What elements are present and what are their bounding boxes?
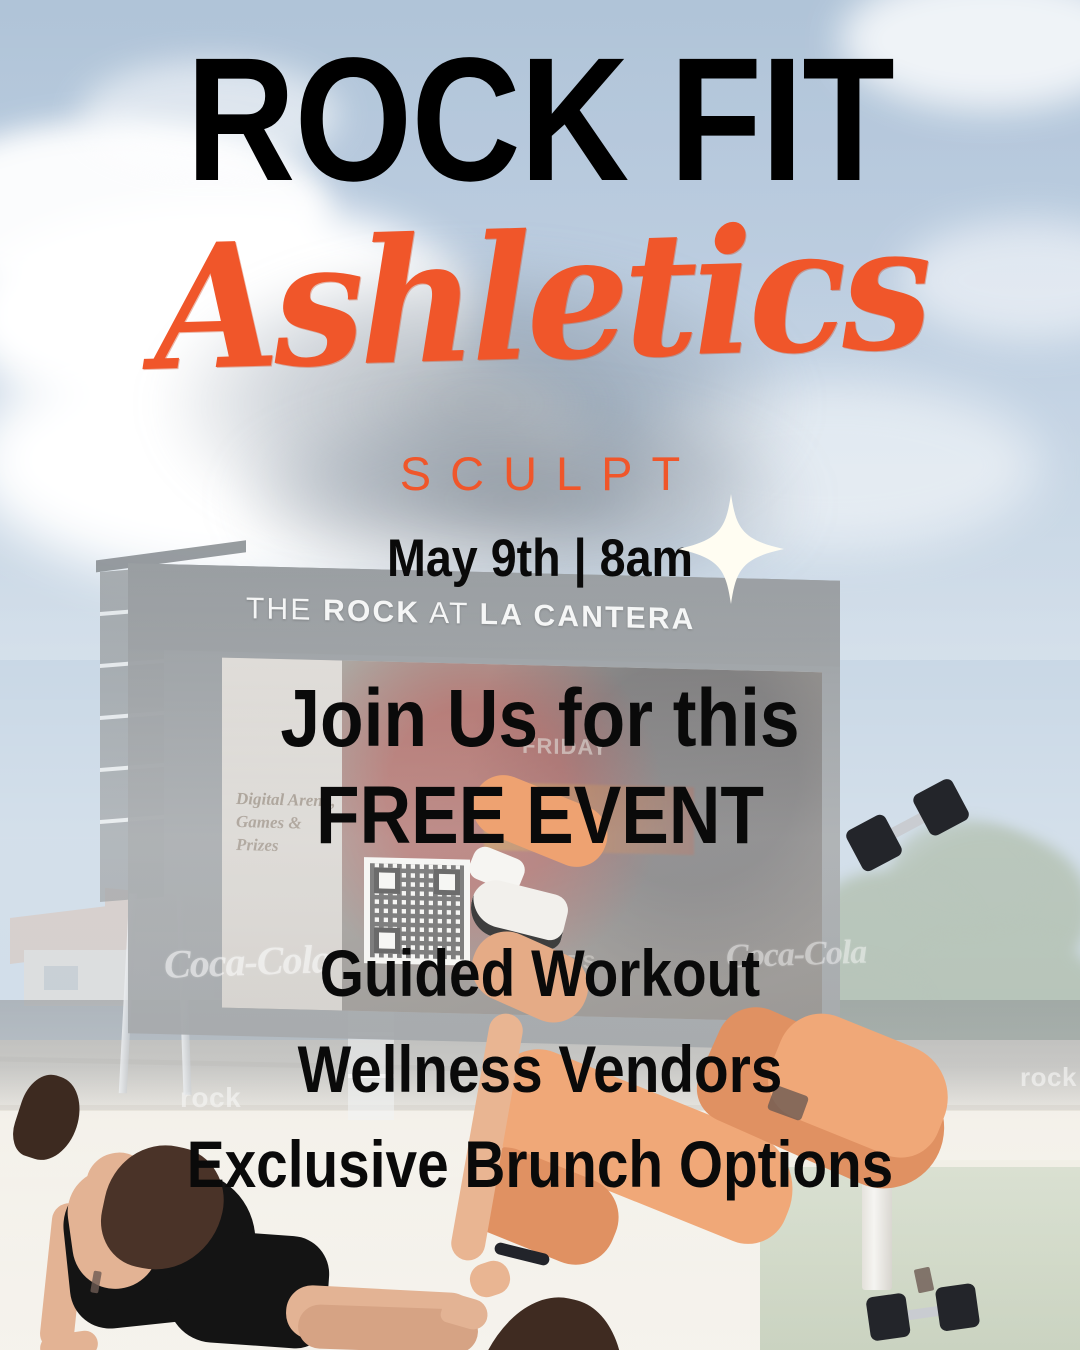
feature-item: Wellness Vendors — [76, 1022, 1005, 1118]
feature-item: Guided Workout — [76, 926, 1005, 1022]
event-date-time: May 9th | 8am — [65, 528, 1015, 589]
headline-line-2: FREE EVENT — [70, 775, 1010, 857]
feature-item: Exclusive Brunch Options — [76, 1117, 1005, 1213]
brand-subtitle-sculpt: SCULPT — [0, 446, 1080, 501]
flyer-text-layer: ROCK FIT Ashletics SCULPT May 9th | 8am … — [0, 0, 1080, 1350]
brand-script-ashletics: Ashletics — [30, 198, 1049, 398]
sparkle-icon — [676, 492, 786, 606]
headline-line-1: Join Us for this — [70, 678, 1010, 760]
brand-title: ROCK FIT — [76, 40, 1005, 202]
feature-list: Guided Workout Wellness Vendors Exclusiv… — [76, 926, 1005, 1213]
event-flyer: rock rock THE RO — [0, 0, 1080, 1350]
